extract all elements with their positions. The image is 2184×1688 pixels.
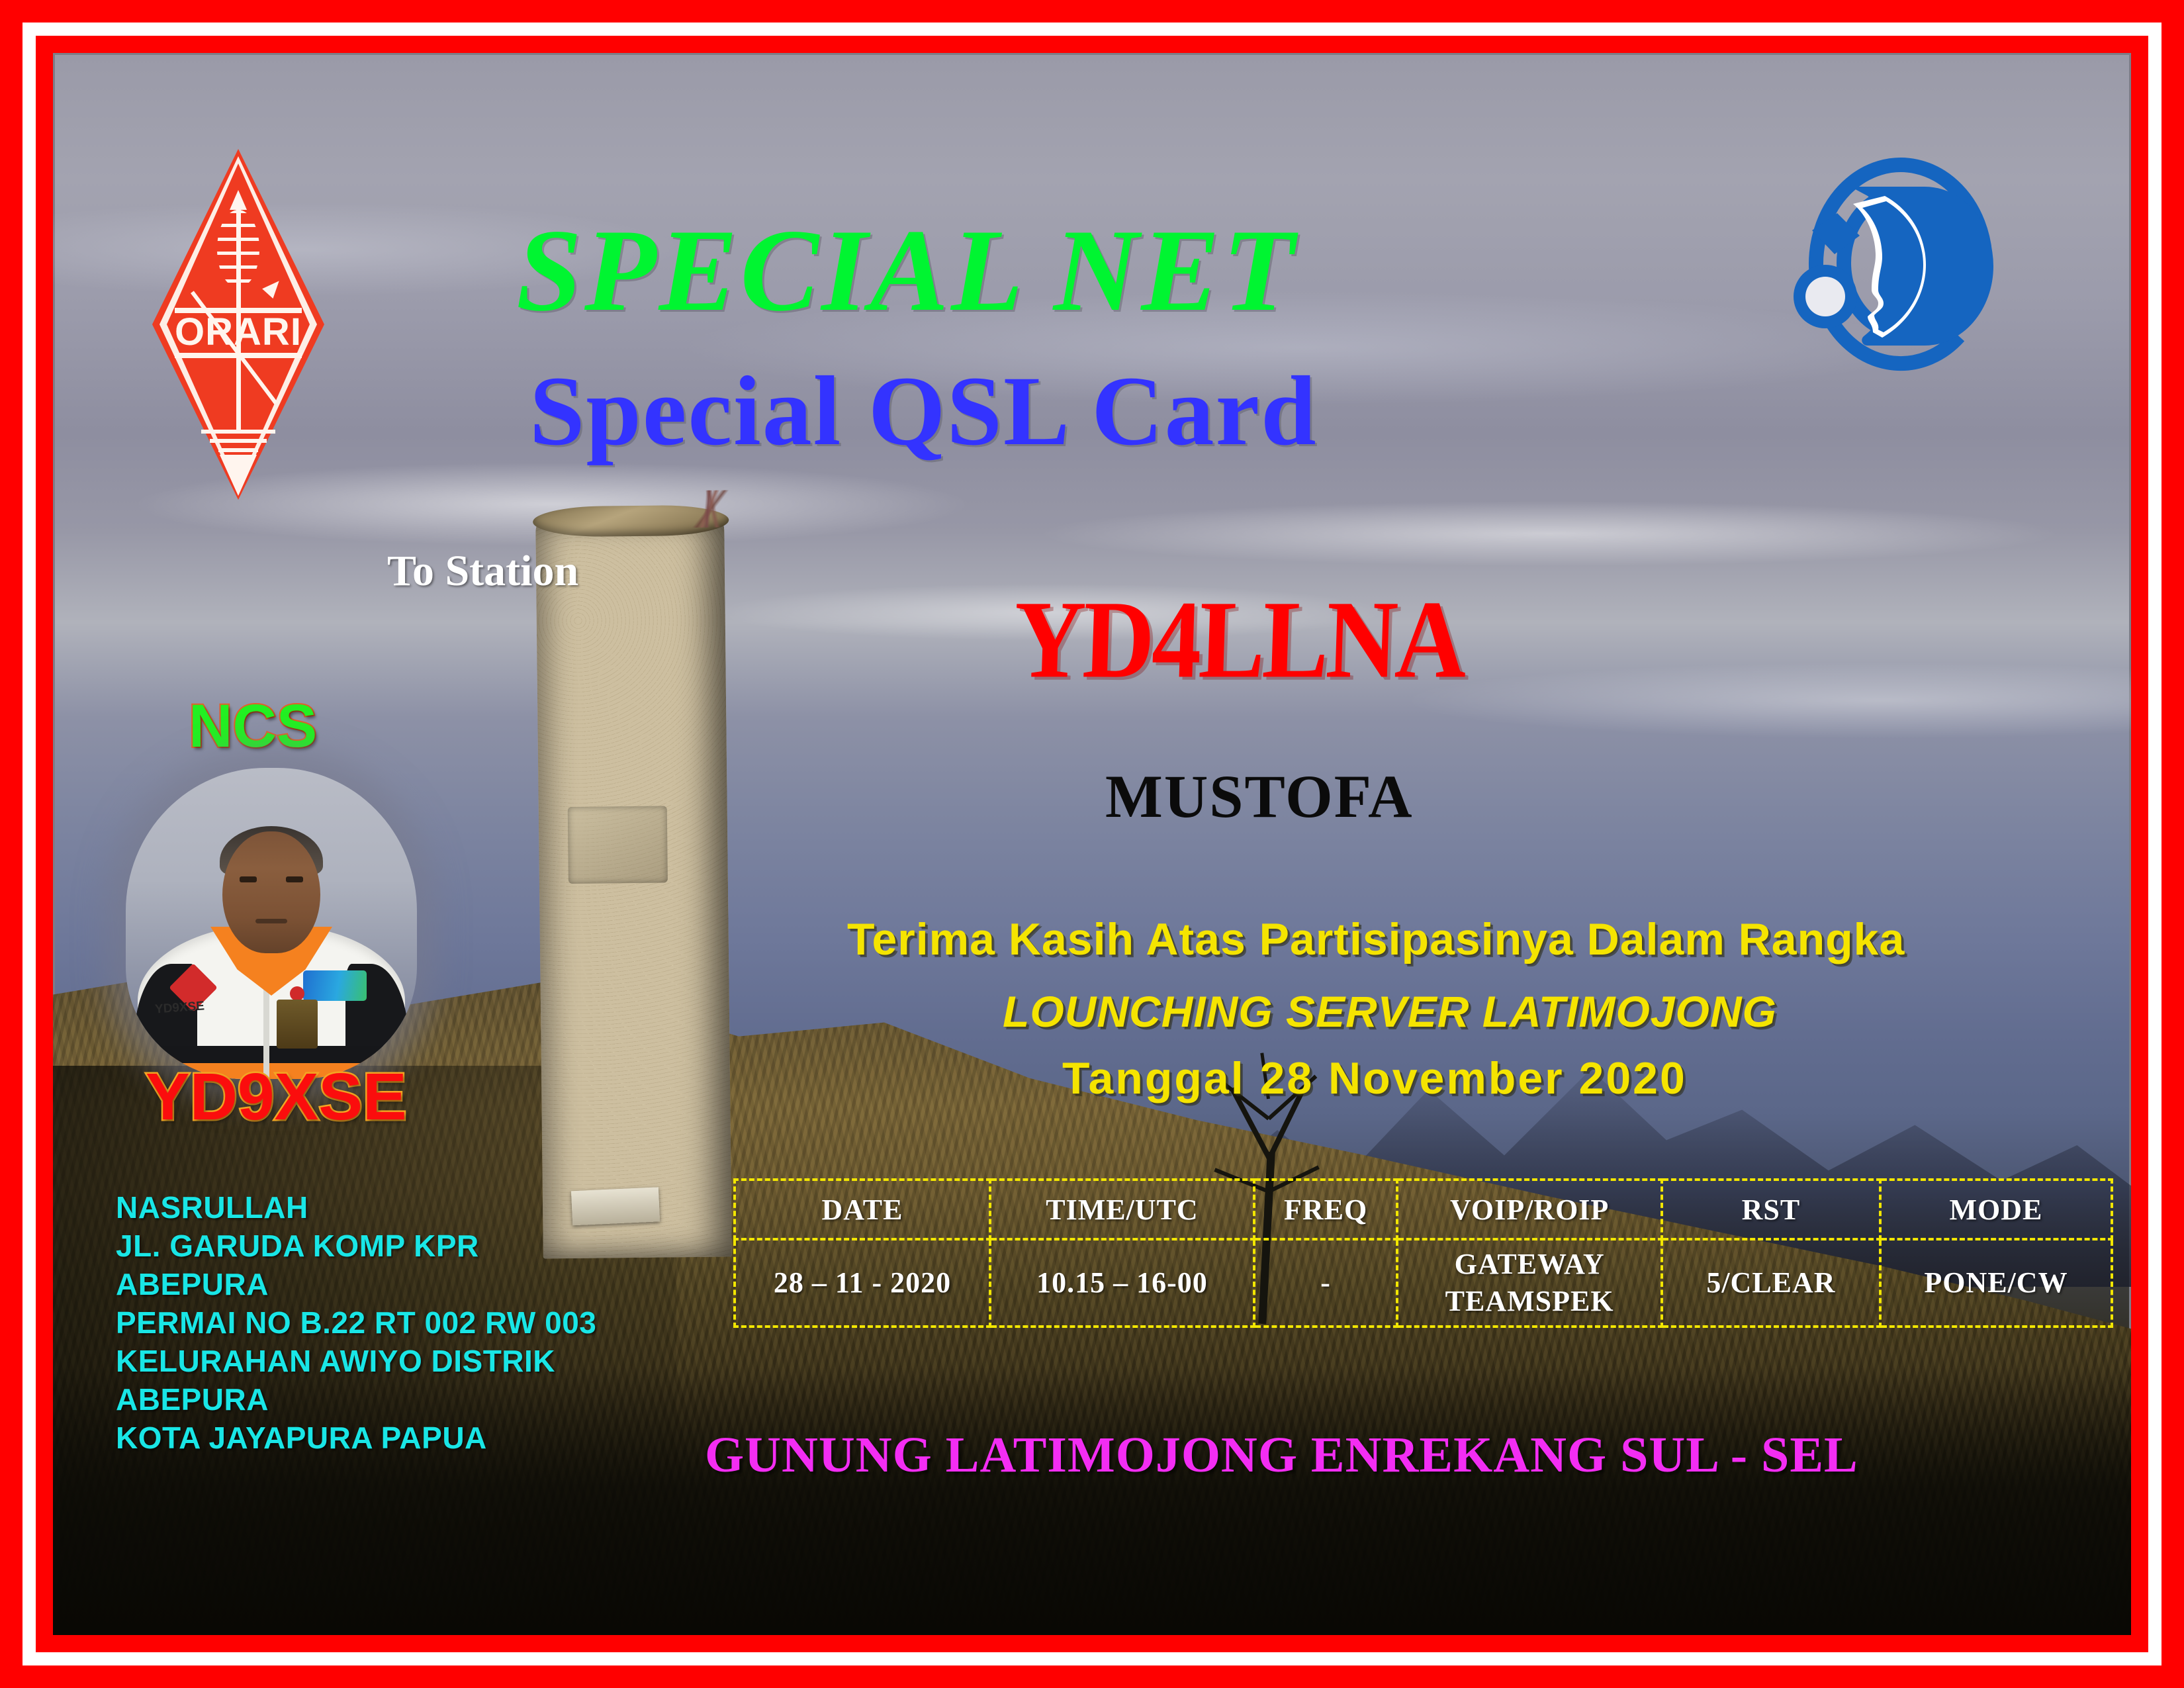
ncs-operator-photo: YD9XSE (126, 768, 417, 1079)
orari-band-bottom (175, 353, 302, 358)
orari-ground-bar-1 (201, 430, 275, 434)
page-title-qsl-card: Special QSL Card (529, 354, 1318, 468)
thanks-line-3: Tanggal 28 November 2020 (1062, 1053, 1687, 1104)
cell-mode: PONE/CW (1880, 1239, 2112, 1327)
cell-freq: - (1254, 1239, 1397, 1327)
column-header-time: TIME/UTC (990, 1180, 1254, 1239)
column-header-date: DATE (735, 1180, 990, 1239)
column-header-voip: VOIP/ROIP (1397, 1180, 1662, 1239)
address-line: KELURAHAN AWIYO DISTRIK (116, 1342, 596, 1380)
stone-summit-pillar (535, 516, 732, 1259)
cell-voip-line1: GATEWAY (1455, 1248, 1605, 1280)
location-caption: GUNUNG LATIMOJONG ENREKANG SUL - SEL (705, 1427, 1858, 1484)
photo-eye-right (286, 876, 303, 882)
column-header-mode: MODE (1880, 1180, 2112, 1239)
address-line: NASRULLAH (116, 1188, 596, 1227)
column-header-freq: FREQ (1254, 1180, 1397, 1239)
orari-ground-bar-2 (210, 439, 267, 443)
ncs-callsign: YD9XSE (146, 1059, 407, 1135)
column-header-rst: RST (1662, 1180, 1880, 1239)
photo-id-card (277, 1000, 318, 1049)
orari-ground-bar-3 (218, 448, 258, 452)
orari-ground-triangle (220, 455, 257, 496)
table-header-row: DATE TIME/UTC FREQ VOIP/ROIP RST MODE (735, 1180, 2112, 1239)
orari-wordmark: ORARI (152, 309, 324, 355)
cell-date: 28 – 11 - 2020 (735, 1239, 990, 1327)
cell-voip-line2: TEAMSPEK (1445, 1285, 1614, 1317)
qso-data-table: DATE TIME/UTC FREQ VOIP/ROIP RST MODE 28… (733, 1178, 2113, 1328)
address-line: PERMAI NO B.22 RT 002 RW 003 (116, 1303, 596, 1342)
card-inner-red-frame: ORARI (36, 36, 2148, 1652)
station-callsign: YD4LLNA (1012, 576, 1466, 704)
pillar-plaque (568, 806, 668, 884)
qsl-card: ORARI (0, 0, 2184, 1688)
cell-voip: GATEWAY TEAMSPEK (1397, 1239, 1662, 1327)
thanks-line-1: Terima Kasih Atas Partisipasinya Dalam R… (847, 914, 1905, 965)
photo-badge-right (303, 970, 367, 1001)
photo-eye-left (240, 876, 257, 882)
address-line: ABEPURA (116, 1380, 596, 1419)
address-block: NASRULLAH JL. GARUDA KOMP KPR ABEPURA PE… (116, 1188, 596, 1457)
ncs-label: NCS (189, 692, 317, 761)
orari-logo: ORARI (152, 149, 324, 500)
table-row: 28 – 11 - 2020 10.15 – 16-00 - GATEWAY T… (735, 1239, 2112, 1327)
operator-name: MUSTOFA (1105, 761, 1414, 831)
thanks-line-2: LOUNCHING SERVER LATIMOJONG (1003, 986, 1777, 1037)
photo-face (222, 831, 320, 953)
photo-mouth (255, 919, 287, 923)
card-photo-background: ORARI (53, 53, 2131, 1635)
photo-id-clip (290, 986, 304, 1001)
cell-rst: 5/CLEAR (1662, 1239, 1880, 1327)
to-station-label: To Station (387, 546, 578, 596)
page-title-special-net: SPECIAL NET (516, 202, 1297, 338)
pillar-weeds (673, 490, 753, 528)
address-line: JL. GARUDA KOMP KPR (116, 1227, 596, 1265)
orari-coil (217, 210, 259, 288)
footer-web-address: Address : amatir.latimojong.com (1330, 1632, 2073, 1635)
address-line: ABEPURA (116, 1265, 596, 1303)
card-white-gap: ORARI (23, 23, 2161, 1665)
cell-time: 10.15 – 16-00 (990, 1239, 1254, 1327)
voip-headset-logo (1787, 152, 2025, 377)
address-line: KOTA JAYAPURA PAPUA (116, 1419, 596, 1457)
